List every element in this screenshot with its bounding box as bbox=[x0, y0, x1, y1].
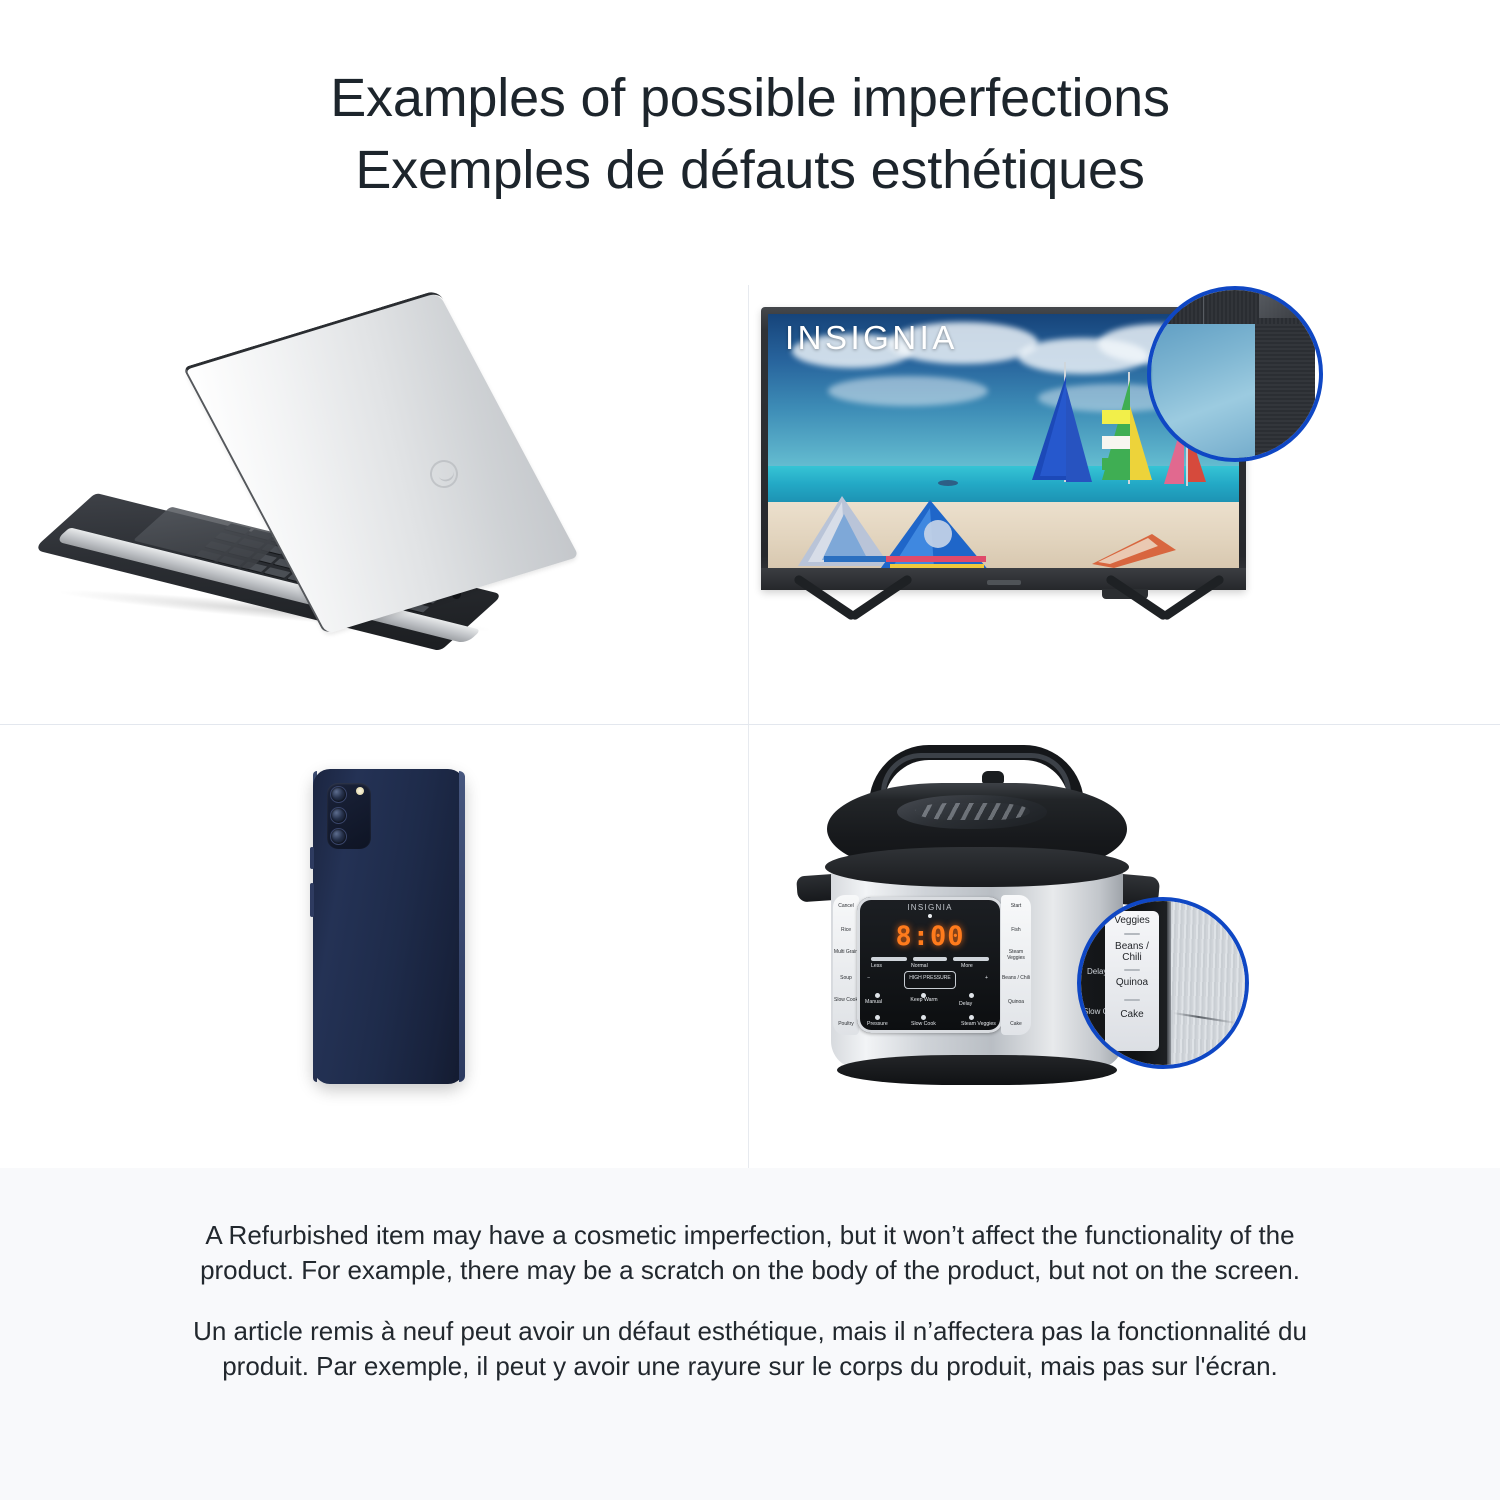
cooker-collar bbox=[825, 847, 1129, 887]
tv-brand-badge bbox=[987, 580, 1021, 585]
tv-illustration: INSIGNIA bbox=[749, 285, 1500, 724]
cooker-base bbox=[837, 1055, 1117, 1085]
cooker-left-button-column[interactable]: Cancel Rice Multi Grain Soup Slow Cook P… bbox=[833, 895, 859, 1035]
phone-edge-right bbox=[459, 771, 465, 1082]
product-examples-grid: INSIGNIA bbox=[0, 285, 1500, 1168]
magnifier-content-tv bbox=[1151, 290, 1319, 458]
cooker-label-less: Less bbox=[871, 963, 882, 969]
magnified-btn-quinoa: Quinoa bbox=[1105, 977, 1159, 988]
kite-right-icon bbox=[1092, 528, 1178, 568]
cooker-label-normal: Normal bbox=[911, 963, 928, 969]
phone-power-button bbox=[310, 883, 314, 917]
cooker-btn-rice[interactable]: Rice bbox=[833, 927, 859, 933]
magnified-btn-beanschili: Beans / Chili bbox=[1105, 941, 1159, 963]
phone-lens-ring-2 bbox=[330, 807, 347, 824]
cooker-bar-more bbox=[953, 957, 989, 961]
cooker-btn-slowcook[interactable]: Slow Cook bbox=[833, 997, 859, 1003]
cooker-label-pressure[interactable]: Pressure bbox=[867, 1021, 888, 1027]
cooker-pressure-button[interactable]: HIGH PRESSURE bbox=[904, 971, 956, 989]
phone-volume-button bbox=[310, 847, 314, 869]
description-english: A Refurbished item may have a cosmetic i… bbox=[180, 1218, 1320, 1288]
title-line-english: Examples of possible imperfections bbox=[0, 62, 1500, 134]
cooker-btn-fish[interactable]: Fish bbox=[1001, 927, 1031, 933]
description-section: A Refurbished item may have a cosmetic i… bbox=[0, 1168, 1500, 1500]
panel-pressure-cooker: Cancel Rice Multi Grain Soup Slow Cook P… bbox=[749, 725, 1500, 1168]
cooker-btn-multigrain[interactable]: Multi Grain bbox=[833, 949, 859, 955]
cooker-label-more: More bbox=[961, 963, 973, 969]
cooker-timer-display: 8:00 bbox=[895, 921, 964, 952]
tv-brand-logo: INSIGNIA bbox=[785, 319, 958, 357]
cooker-label-keepwarm[interactable]: Keep Warm bbox=[909, 997, 939, 1003]
magnified-screen-area bbox=[1151, 316, 1259, 462]
magnified-btn-veggies: Veggies bbox=[1105, 915, 1159, 926]
magnified-bezel-seam bbox=[1203, 290, 1204, 324]
cooker-btn-cancel[interactable]: Cancel bbox=[833, 903, 859, 909]
kite-center-icon bbox=[872, 500, 1002, 568]
description-text-block: A Refurbished item may have a cosmetic i… bbox=[180, 1218, 1320, 1384]
cooker-btn-start[interactable]: Start bbox=[1001, 903, 1031, 909]
cooker-label-slowcook2[interactable]: Slow Cook bbox=[911, 1021, 936, 1027]
sailboat-blue-small-icon bbox=[1066, 386, 1098, 486]
cooker-btn-poultry[interactable]: Poultry bbox=[833, 1021, 859, 1027]
phone-lens-ring-1 bbox=[330, 786, 347, 803]
magnifier-circle-cooker: Delay Slow Cook Veggies Beans / Chili Qu… bbox=[1077, 897, 1249, 1069]
phone-illustration bbox=[0, 725, 748, 1168]
cooker-btn-cake[interactable]: Cake bbox=[1001, 1021, 1031, 1027]
title-line-french: Exemples de défauts esthétiques bbox=[0, 134, 1500, 206]
panel-tv: INSIGNIA bbox=[749, 285, 1500, 724]
magnified-button-column: Veggies Beans / Chili Quinoa Cake bbox=[1105, 911, 1159, 1051]
sailboat-green-icon bbox=[1100, 380, 1134, 484]
panel-laptop bbox=[0, 285, 748, 724]
cooker-btn-beanschili[interactable]: Beans / Chili bbox=[1001, 975, 1031, 981]
cooker-label-minus: − bbox=[867, 975, 870, 981]
cooker-btn-quinoa[interactable]: Quinoa bbox=[1001, 999, 1031, 1005]
sailboat-blue-icon bbox=[1030, 376, 1070, 486]
magnifier-circle-tv bbox=[1147, 286, 1323, 462]
phone-lens-ring-3 bbox=[330, 828, 347, 845]
tv-bottom-bezel bbox=[761, 568, 1246, 590]
cooker-brand-logo: INSIGNIA bbox=[907, 903, 953, 912]
cooker-lid-vent bbox=[897, 795, 1047, 829]
cooker-bar-less bbox=[871, 957, 907, 961]
refurbished-imperfections-infographic: Examples of possible imperfections Exemp… bbox=[0, 0, 1500, 1500]
cooker-bar-normal bbox=[913, 957, 947, 961]
phone-flash-icon bbox=[356, 787, 364, 795]
laptop-illustration bbox=[0, 285, 748, 724]
magnified-corner-highlight bbox=[1259, 294, 1309, 318]
cooker-label-manual[interactable]: Manual bbox=[865, 999, 882, 1005]
cooker-btn-soup[interactable]: Soup bbox=[833, 975, 859, 981]
cooker-control-panel[interactable]: INSIGNIA 8:00 Less Normal More HIGH PRES… bbox=[857, 897, 1003, 1033]
page-title: Examples of possible imperfections Exemp… bbox=[0, 62, 1500, 206]
magnifier-content-cooker: Delay Slow Cook Veggies Beans / Chili Qu… bbox=[1081, 901, 1245, 1065]
cooker-label-steam[interactable]: Steam Veggies bbox=[961, 1021, 996, 1027]
panel-phone bbox=[0, 725, 748, 1168]
cooker-btn-steamveggies[interactable]: Steam Veggies bbox=[1001, 949, 1031, 961]
cooker-label-plus: + bbox=[985, 975, 988, 981]
cooker-right-button-column[interactable]: Start Fish Steam Veggies Beans / Chili Q… bbox=[1001, 895, 1031, 1035]
cooker-label-delay[interactable]: Delay bbox=[959, 1001, 972, 1007]
magnified-btn-cake: Cake bbox=[1105, 1009, 1159, 1020]
magnified-panel-edge bbox=[1167, 901, 1171, 1069]
magnified-body-scratch bbox=[1173, 1012, 1236, 1023]
description-french: Un article remis à neuf peut avoir un dé… bbox=[180, 1314, 1320, 1384]
cooker-indicator-led bbox=[928, 914, 932, 918]
